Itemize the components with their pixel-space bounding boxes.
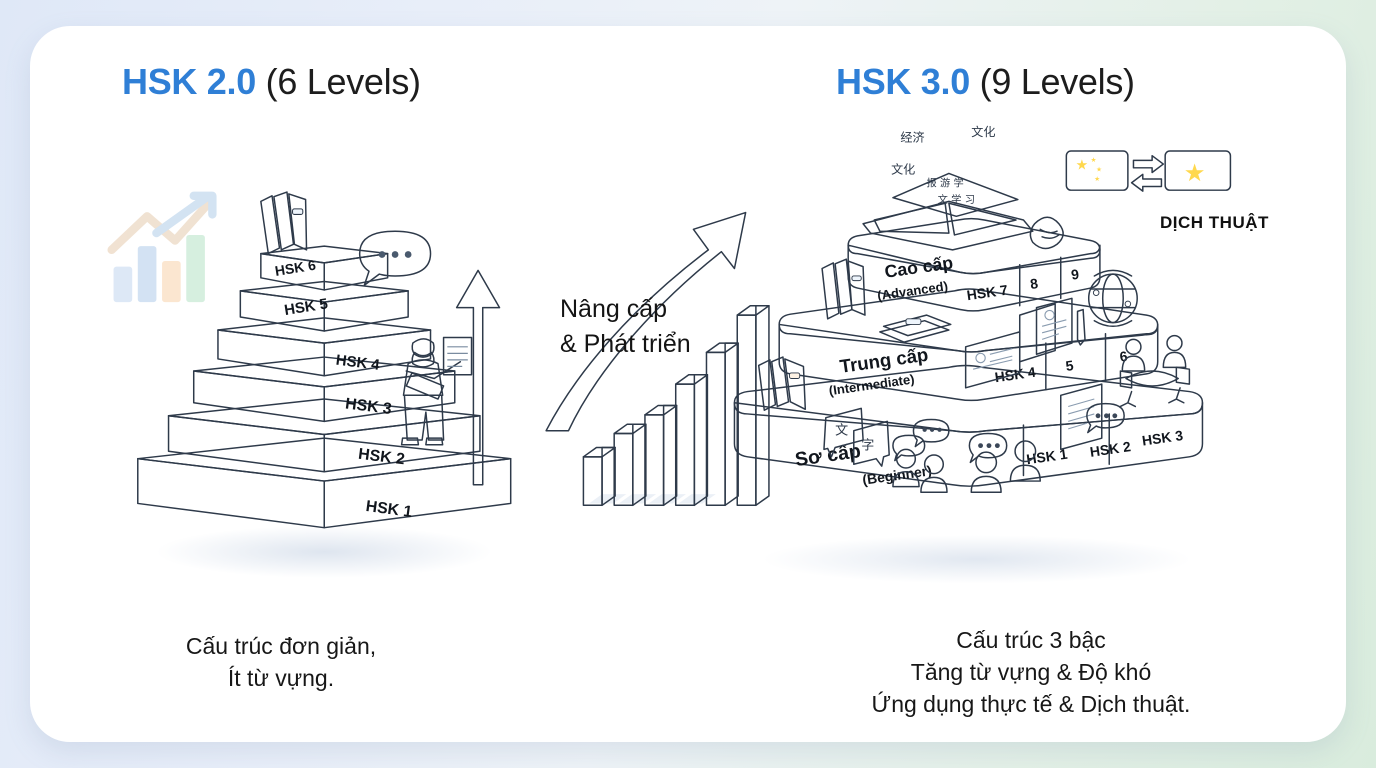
right-title-rest: (9 Levels)	[970, 61, 1135, 102]
translation-badge-label: DỊCH THUẬT	[1160, 213, 1269, 233]
left-caption: Cấu trúc đơn giản, Ít từ vựng.	[96, 630, 466, 694]
left-panel-title: HSK 2.0 (6 Levels)	[122, 61, 421, 103]
left-title-highlight: HSK 2.0	[122, 61, 256, 102]
infographic-page: HSK 2.0 (6 Levels) HSK 3.0 (9 Levels)	[0, 0, 1376, 768]
left-title-rest: (6 Levels)	[256, 61, 421, 102]
middle-label: Nâng cấp & Phát triển	[560, 292, 770, 362]
right-title-highlight: HSK 3.0	[836, 61, 970, 102]
right-panel-title: HSK 3.0 (9 Levels)	[836, 61, 1135, 103]
right-caption: Cấu trúc 3 bậc Tăng từ vựng & Độ khó Ứng…	[800, 624, 1262, 720]
